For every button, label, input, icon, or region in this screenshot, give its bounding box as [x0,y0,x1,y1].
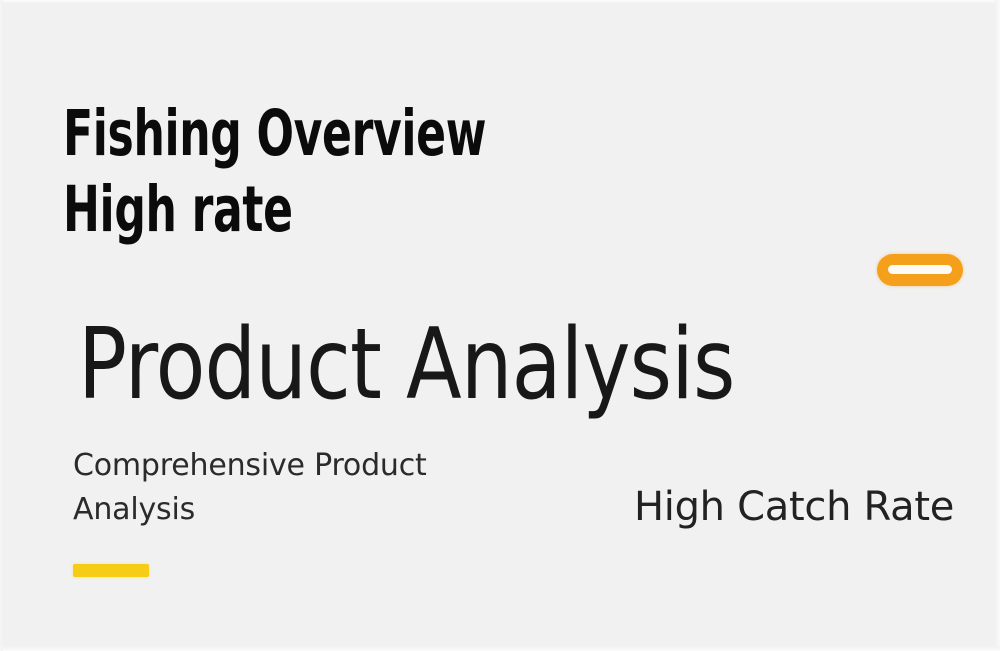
page-title: Product Analysis [78,310,735,420]
kicker-heading-line-2: High rate [63,172,497,248]
kicker-heading: Fishing Overview High rate [63,96,497,248]
slide-edge-right [995,0,1000,651]
yellow-accent-bar [73,564,149,577]
tagline-text: High Catch Rate [634,481,954,533]
slide-edge-left [0,0,3,651]
kicker-heading-line-1: Fishing Overview [63,96,497,172]
subtitle-text: Comprehensive Product Analysis [73,444,473,532]
orange-pill-badge [877,254,963,286]
orange-pill-badge-inner [888,265,952,274]
slide-canvas: Fishing Overview High rate Product Analy… [0,0,1000,651]
slide-edge-top [0,0,1000,4]
slide-edge-bottom [0,646,1000,651]
